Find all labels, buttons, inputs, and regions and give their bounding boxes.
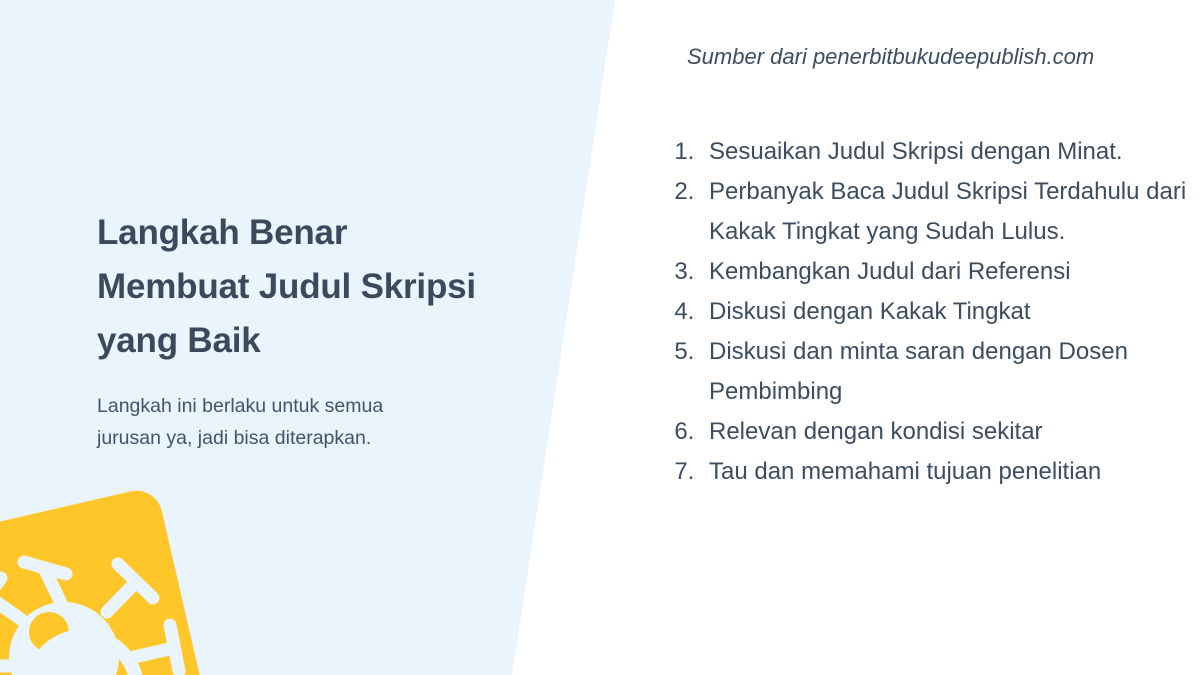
list-item: Kembangkan Judul dari Referensi — [701, 252, 1200, 292]
page-subtitle-line-1: Langkah ini berlaku untuk semua — [97, 390, 547, 422]
page-title-line-1: Langkah Benar — [97, 206, 547, 260]
list-item: Tau dan memahami tujuan penelitian — [701, 452, 1200, 492]
list-item: Diskusi dengan Kakak Tingkat — [701, 292, 1200, 332]
list-item: Sesuaikan Judul Skripsi dengan Minat. — [701, 132, 1200, 172]
source-attribution: Sumber dari penerbitbukudeepublish.com — [687, 42, 1094, 72]
steps-list: Sesuaikan Judul Skripsi dengan Minat. Pe… — [653, 132, 1200, 492]
page-title: Langkah Benar Membuat Judul Skripsi yang… — [97, 206, 547, 368]
slide-root: Langkah Benar Membuat Judul Skripsi yang… — [0, 0, 1200, 675]
list-item: Perbanyak Baca Judul Skripsi Terdahulu d… — [701, 172, 1200, 252]
left-text-block: Langkah Benar Membuat Judul Skripsi yang… — [97, 206, 547, 454]
page-subtitle-line-2: jurusan ya, jadi bisa diterapkan. — [97, 422, 547, 454]
right-panel: Sumber dari penerbitbukudeepublish.com S… — [640, 0, 1200, 675]
page-subtitle: Langkah ini berlaku untuk semua jurusan … — [97, 390, 547, 454]
page-title-line-2: Membuat Judul Skripsi — [97, 260, 547, 314]
page-title-line-3: yang Baik — [97, 314, 547, 368]
list-item: Diskusi dan minta saran dengan Dosen Pem… — [701, 332, 1200, 412]
list-item: Relevan dengan kondisi sekitar — [701, 412, 1200, 452]
